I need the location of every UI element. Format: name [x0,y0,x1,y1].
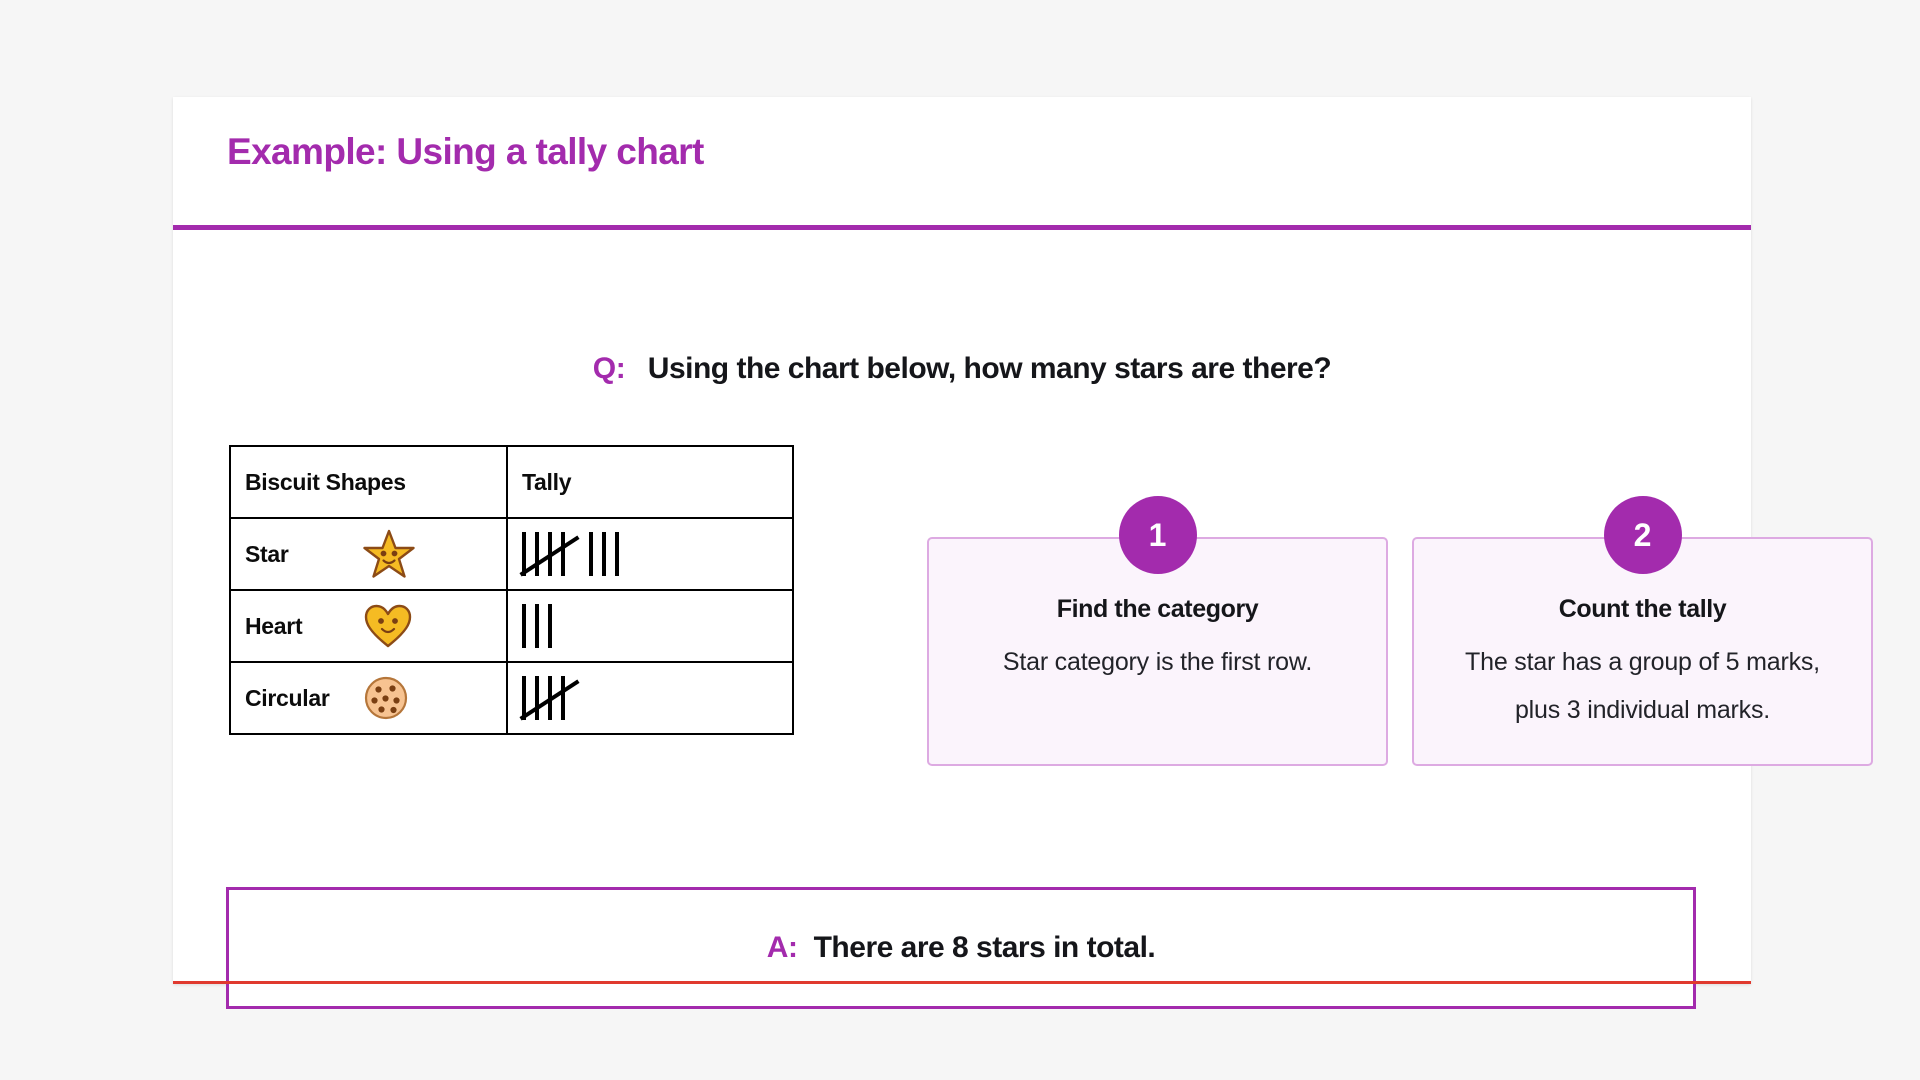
cell-category-star: Star [230,518,507,590]
table-row: Heart [230,590,793,662]
cookie-emoji [363,675,409,721]
question-text: Using the chart below, how many stars ar… [648,352,1331,385]
tally-bar [548,532,552,576]
tally-bar [522,532,526,576]
page-title: Example: Using a tally chart [227,131,704,173]
step-body-2: The star has a group of 5 marks, plus 3 … [1444,638,1841,734]
tally-chart-table: Biscuit Shapes Tally Star [229,445,794,735]
tally-bar [548,676,552,720]
step-heading-2: Count the tally [1444,595,1841,624]
category-label-circular: Circular [245,685,363,712]
step-heading-1: Find the category [959,595,1356,624]
tally-bar [561,676,565,720]
bottom-accent-rule [173,981,1751,984]
tally-bar [615,532,619,576]
steps-container: 1 Find the category Star category is the… [927,537,1873,766]
answer-text: There are 8 stars in total. [814,931,1156,965]
tally-marks-star [522,531,778,577]
cell-tally-star [507,518,793,590]
question-label: Q: [593,352,626,385]
tally-bar [535,604,539,648]
tally-marks-heart [522,603,778,649]
star-emoji [363,529,415,579]
slide-header: Example: Using a tally chart [173,97,1751,232]
tally-group-of-three [522,603,552,649]
tally-bar [535,676,539,720]
tally-bar [522,604,526,648]
tally-bar [522,676,526,720]
step-body-1: Star category is the first row. [959,638,1356,686]
tally-bar [548,604,552,648]
column-header-tally: Tally [507,446,793,518]
question-row: Q: Using the chart below, how many stars… [173,352,1751,386]
column-header-label: Tally [522,469,571,495]
tally-bar [589,532,593,576]
answer-label: A: [767,931,798,965]
tally-group-of-five [522,531,567,577]
tally-bar [535,532,539,576]
tally-bar [602,532,606,576]
tally-bar [561,532,565,576]
step-card-2: 2 Count the tally The star has a group o… [1412,537,1873,766]
step-card-1: 1 Find the category Star category is the… [927,537,1388,766]
table-row: Star [230,518,793,590]
step-badge-1: 1 [1119,496,1197,574]
cell-category-heart: Heart [230,590,507,662]
heart-emoji [363,603,413,649]
slide-card: Example: Using a tally chart Q: Using th… [173,97,1751,984]
category-label-heart: Heart [245,613,363,640]
tally-group-of-three [589,531,619,577]
tally-marks-circular [522,675,778,721]
cell-category-circular: Circular [230,662,507,734]
column-header-biscuit-shapes: Biscuit Shapes [230,446,507,518]
table-header-row: Biscuit Shapes Tally [230,446,793,518]
step-badge-2: 2 [1604,496,1682,574]
table-row: Circular [230,662,793,734]
cell-tally-heart [507,590,793,662]
tally-group-of-five [522,675,567,721]
category-label-star: Star [245,541,363,568]
cell-tally-circular [507,662,793,734]
answer-box: A: There are 8 stars in total. [226,887,1696,1009]
column-header-label: Biscuit Shapes [245,469,406,495]
title-divider [173,225,1751,230]
